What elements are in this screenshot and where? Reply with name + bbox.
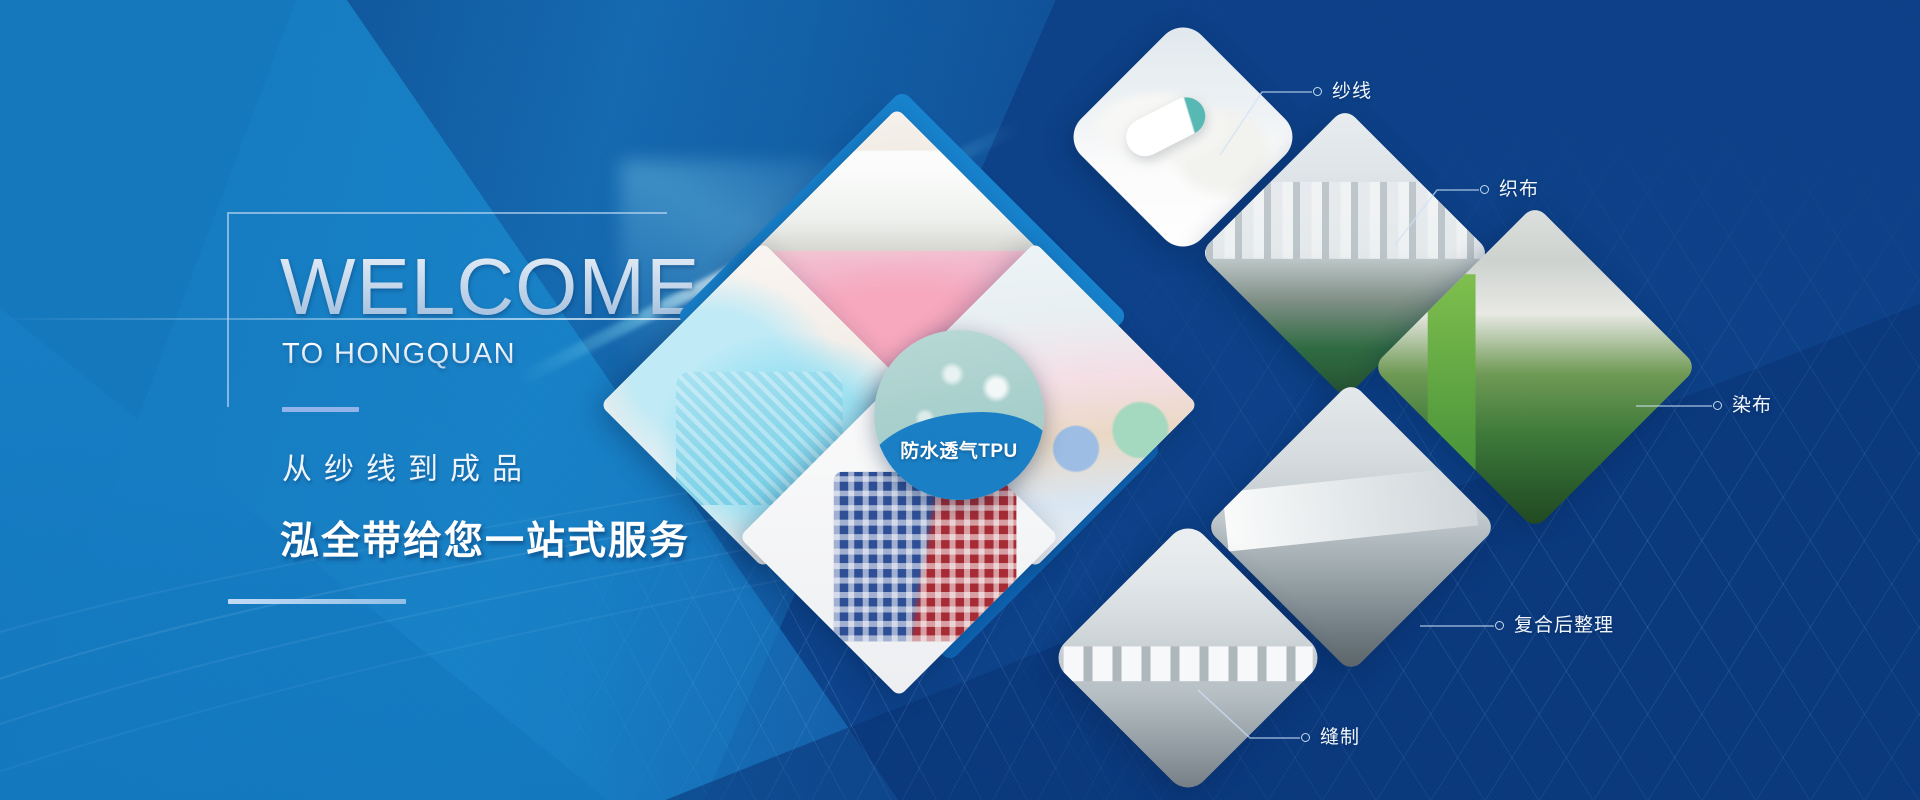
connector-dot-sewing (1301, 733, 1310, 742)
accent-rule (282, 407, 359, 412)
process-label-lamination: 复合后整理 (1514, 610, 1614, 637)
connector-dot-dyeing (1713, 401, 1722, 410)
tpu-badge-label: 防水透气TPU (874, 436, 1044, 463)
process-label-weaving: 织布 (1499, 174, 1539, 201)
process-label-yarn: 纱线 (1332, 76, 1372, 103)
hero-banner: WELCOME TO HONGQUAN 从纱线到成品 泓全带给您一站式服务 防水… (0, 0, 1920, 800)
headline-chinese: 泓全带给您一站式服务 (280, 510, 748, 566)
bottom-divider-rule (228, 599, 406, 604)
tpu-feature-badge[interactable]: 防水透气TPU (874, 330, 1044, 500)
process-label-sewing: 缝制 (1320, 722, 1360, 749)
connector-dot-weaving (1480, 185, 1489, 194)
welcome-heading: WELCOME (280, 200, 748, 326)
connector-dot-lamination (1495, 621, 1504, 630)
process-label-dyeing: 染布 (1732, 390, 1772, 417)
connector-dot-yarn (1313, 87, 1322, 96)
